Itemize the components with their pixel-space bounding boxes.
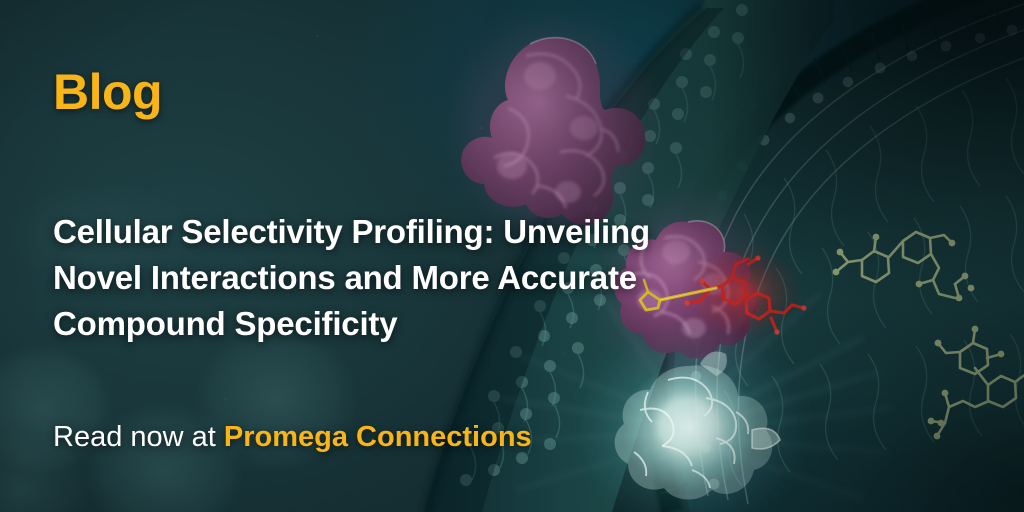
cta-prefix: Read now at (53, 421, 224, 453)
cta-brand-name[interactable]: Promega Connections (224, 421, 532, 453)
kicker-label: Blog (53, 67, 162, 117)
page-title: Cellular Selectivity Profiling: Unveilin… (53, 209, 693, 347)
headline-line-2: Novel Interactions and More Accurate (53, 255, 693, 301)
blog-promo-banner: Blog Cellular Selectivity Profiling: Unv… (0, 0, 1024, 512)
headline-line-3: Compound Specificity (53, 301, 693, 347)
headline-line-1: Cellular Selectivity Profiling: Unveilin… (53, 209, 693, 255)
banner-content: Blog Cellular Selectivity Profiling: Unv… (53, 0, 713, 512)
cta-link[interactable]: Read now at Promega Connections (53, 420, 532, 455)
